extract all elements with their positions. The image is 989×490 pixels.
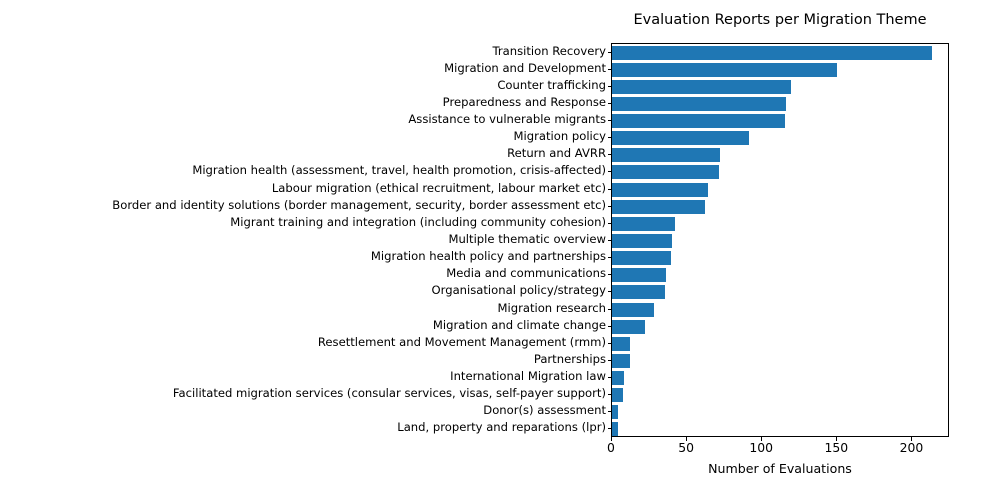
- y-tick-label: Migration health policy and partnerships: [371, 250, 606, 262]
- bar: [612, 422, 618, 436]
- bar-row: [612, 422, 948, 436]
- bar-row: [612, 131, 948, 145]
- bar: [612, 337, 630, 351]
- y-tick-mark: [608, 360, 612, 361]
- y-tick-mark: [608, 257, 612, 258]
- bar: [612, 303, 654, 317]
- bar-row: [612, 97, 948, 111]
- bar-row: [612, 371, 948, 385]
- chart-figure: Evaluation Reports per Migration Theme T…: [0, 0, 989, 490]
- bar-row: [612, 80, 948, 94]
- bar-row: [612, 388, 948, 402]
- bar: [612, 354, 630, 368]
- y-tick-mark: [608, 154, 612, 155]
- y-tick-mark: [608, 377, 612, 378]
- bar-row: [612, 337, 948, 351]
- y-tick-label: International Migration law: [450, 370, 606, 382]
- bar: [612, 46, 932, 60]
- y-tick-label: Facilitated migration services (consular…: [173, 387, 606, 399]
- y-tick-mark: [608, 394, 612, 395]
- y-tick-mark: [608, 189, 612, 190]
- y-tick-label: Partnerships: [534, 353, 606, 365]
- bar: [612, 165, 719, 179]
- plot-area: [611, 43, 949, 437]
- bar: [612, 200, 705, 214]
- y-tick-label: Migration research: [497, 302, 606, 314]
- y-tick-label: Migration health (assessment, travel, he…: [192, 164, 606, 176]
- bar-row: [612, 46, 948, 60]
- y-tick-label: Land, property and reparations (lpr): [397, 421, 606, 433]
- x-tick-label: 150: [825, 441, 849, 455]
- y-tick-label: Migrant training and integration (includ…: [230, 216, 606, 228]
- y-tick-label: Media and communications: [446, 267, 606, 279]
- y-tick-label: Labour migration (ethical recruitment, l…: [272, 182, 606, 194]
- bar-row: [612, 354, 948, 368]
- x-tick-label: 100: [749, 441, 773, 455]
- bar: [612, 388, 623, 402]
- y-tick-mark: [608, 240, 612, 241]
- bar: [612, 63, 837, 77]
- y-tick-label: Organisational policy/strategy: [432, 284, 606, 296]
- y-tick-label: Migration and climate change: [433, 319, 606, 331]
- x-axis-label: Number of Evaluations: [611, 461, 949, 476]
- y-tick-mark: [608, 223, 612, 224]
- bar-row: [612, 268, 948, 282]
- bar: [612, 131, 749, 145]
- bar: [612, 234, 672, 248]
- y-tick-label: Assistance to vulnerable migrants: [408, 113, 606, 125]
- y-tick-mark: [608, 86, 612, 87]
- x-tick-label: 50: [678, 441, 694, 455]
- bar: [612, 405, 618, 419]
- y-tick-mark: [608, 274, 612, 275]
- bar: [612, 114, 785, 128]
- bar-row: [612, 285, 948, 299]
- chart-title: Evaluation Reports per Migration Theme: [611, 11, 949, 29]
- bar-row: [612, 234, 948, 248]
- bar-row: [612, 217, 948, 231]
- bar: [612, 268, 666, 282]
- bar-row: [612, 251, 948, 265]
- bar-row: [612, 63, 948, 77]
- bar: [612, 183, 708, 197]
- bar: [612, 148, 720, 162]
- y-tick-mark: [608, 309, 612, 310]
- y-tick-label: Resettlement and Movement Management (rm…: [318, 336, 606, 348]
- bar-row: [612, 303, 948, 317]
- y-tick-mark: [608, 343, 612, 344]
- y-tick-mark: [608, 103, 612, 104]
- y-tick-label: Donor(s) assessment: [483, 404, 606, 416]
- bar: [612, 285, 665, 299]
- y-tick-mark: [608, 137, 612, 138]
- bar: [612, 251, 671, 265]
- bar-row: [612, 320, 948, 334]
- y-tick-label: Preparedness and Response: [443, 96, 606, 108]
- y-tick-mark: [608, 206, 612, 207]
- bar-row: [612, 148, 948, 162]
- y-tick-label: Migration policy: [514, 130, 606, 142]
- bar: [612, 320, 645, 334]
- bar-row: [612, 114, 948, 128]
- y-tick-mark: [608, 171, 612, 172]
- y-tick-label: Border and identity solutions (border ma…: [112, 199, 606, 211]
- bar-row: [612, 405, 948, 419]
- y-tick-mark: [608, 411, 612, 412]
- x-tick-label: 200: [900, 441, 924, 455]
- y-tick-label: Multiple thematic overview: [448, 233, 606, 245]
- bar: [612, 217, 675, 231]
- bar: [612, 97, 786, 111]
- y-tick-label: Migration and Development: [444, 62, 606, 74]
- y-tick-label: Counter trafficking: [497, 79, 606, 91]
- y-tick-mark: [608, 52, 612, 53]
- bar: [612, 80, 791, 94]
- y-tick-mark: [608, 326, 612, 327]
- bar: [612, 371, 624, 385]
- y-tick-label: Transition Recovery: [492, 45, 606, 57]
- bars-layer: [612, 44, 948, 436]
- y-tick-mark: [608, 291, 612, 292]
- y-tick-mark: [608, 69, 612, 70]
- bar-row: [612, 183, 948, 197]
- x-tick-label: 0: [607, 441, 615, 455]
- y-tick-mark: [608, 428, 612, 429]
- bar-row: [612, 165, 948, 179]
- bar-row: [612, 200, 948, 214]
- y-tick-mark: [608, 120, 612, 121]
- y-tick-label: Return and AVRR: [507, 147, 606, 159]
